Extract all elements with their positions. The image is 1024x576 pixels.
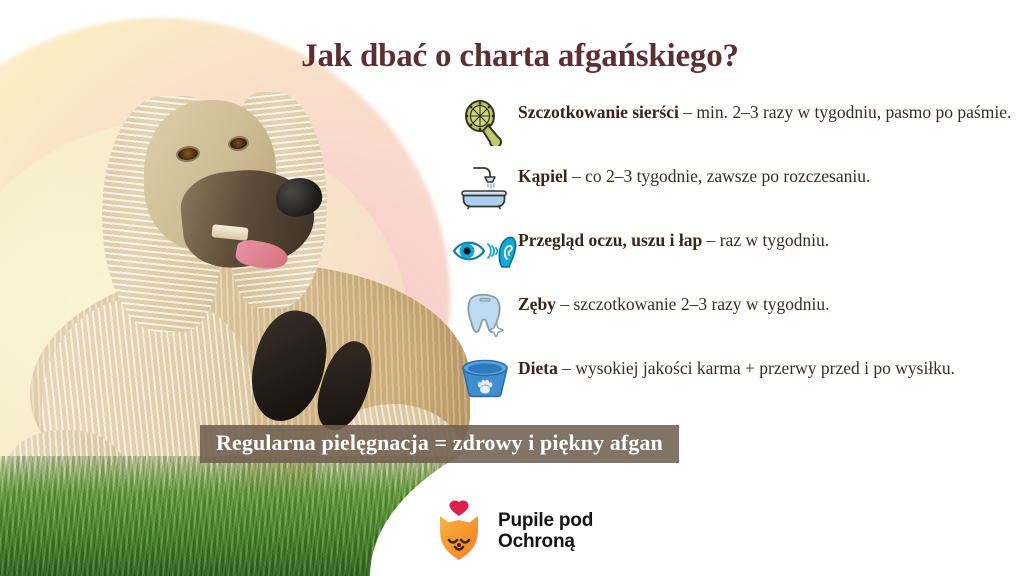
- hair-brush-icon: [452, 98, 518, 148]
- care-tips-list: Szczotkowanie sierści – min. 2–3 razy w …: [452, 98, 1012, 418]
- brand-logo[interactable]: Pupile pod Ochroną: [432, 500, 593, 562]
- tip-detail: – wysokiej jakości karma + przerwy przed…: [558, 358, 955, 378]
- bathtub-shower-icon: [452, 162, 518, 212]
- list-item-text: Kąpiel – co 2–3 tygodnie, zawsze po rozc…: [518, 162, 1012, 188]
- list-item-text: Dieta – wysokiej jakości karma + przerwy…: [518, 354, 1012, 380]
- list-item: Przegląd oczu, uszu i łap – raz w tygodn…: [452, 226, 1012, 276]
- tip-detail: – co 2–3 tygodnie, zawsze po rozczesaniu…: [568, 166, 871, 186]
- dog-head: [108, 74, 323, 324]
- list-item-text: Przegląd oczu, uszu i łap – raz w tygodn…: [518, 226, 1012, 252]
- tip-title: Szczotkowanie sierści: [518, 102, 679, 122]
- brand-name-line1: Pupile pod: [498, 510, 593, 531]
- list-item: Dieta – wysokiej jakości karma + przerwy…: [452, 354, 1012, 404]
- brand-name: Pupile pod Ochroną: [498, 510, 593, 553]
- brand-name-line2: Ochroną: [498, 531, 593, 552]
- tip-title: Kąpiel: [518, 166, 568, 186]
- list-item-text: Szczotkowanie sierści – min. 2–3 razy w …: [518, 98, 1012, 124]
- tip-title: Dieta: [518, 358, 558, 378]
- list-item-text: Zęby – szczotkowanie 2–3 razy w tygodniu…: [518, 290, 1012, 316]
- cat-shield-heart-icon: [432, 500, 486, 562]
- dog-bowl-icon: [452, 354, 518, 404]
- list-item: Szczotkowanie sierści – min. 2–3 razy w …: [452, 98, 1012, 148]
- list-item: Kąpiel – co 2–3 tygodnie, zawsze po rozc…: [452, 162, 1012, 212]
- page-title: Jak dbać o charta afgańskiego?: [180, 38, 860, 75]
- tip-detail: – min. 2–3 razy w tygodniu, pasmo po paś…: [679, 102, 1011, 122]
- tip-title: Zęby: [518, 294, 556, 314]
- tip-detail: – raz w tygodniu.: [702, 230, 829, 250]
- tip-detail: – szczotkowanie 2–3 razy w tygodniu.: [556, 294, 830, 314]
- summary-banner: Regularna pielęgnacja = zdrowy i piękny …: [200, 425, 679, 463]
- afghan-hound-photo: [0, 60, 470, 576]
- eye-ear-icon: [452, 226, 518, 276]
- tooth-icon: [452, 290, 518, 340]
- tip-title: Przegląd oczu, uszu i łap: [518, 230, 702, 250]
- infographic-canvas: Jak dbać o charta afgańskiego?: [0, 0, 1024, 576]
- list-item: Zęby – szczotkowanie 2–3 razy w tygodniu…: [452, 290, 1012, 340]
